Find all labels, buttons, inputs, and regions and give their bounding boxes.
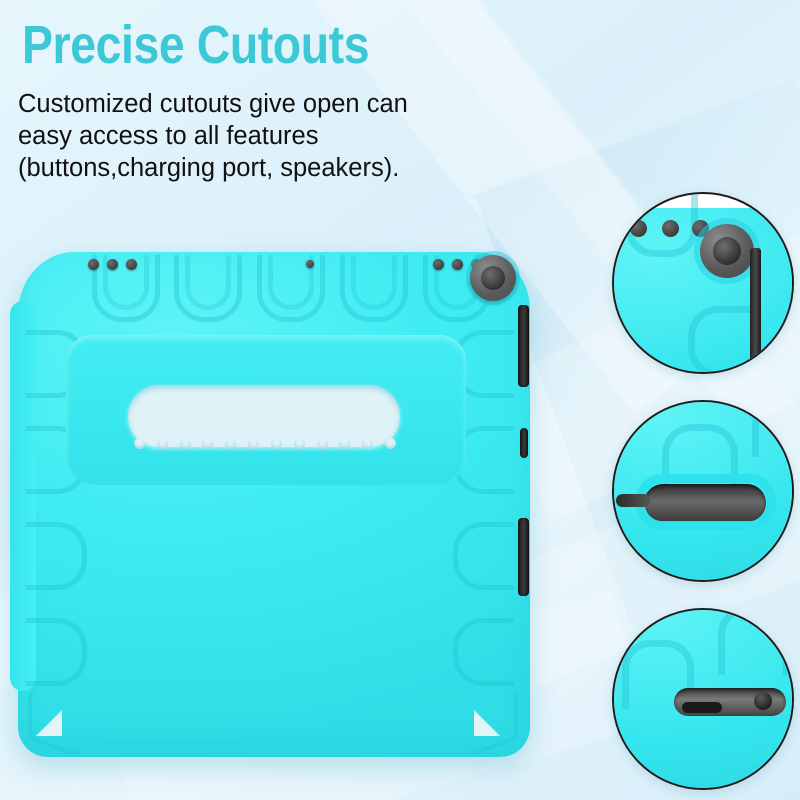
page-title: Precise Cutouts — [22, 16, 369, 74]
grip-bump — [294, 438, 305, 449]
microphone-dot — [88, 259, 99, 270]
subtitle-text: Customized cutouts give open can easy ac… — [18, 88, 538, 184]
grip-bump — [202, 438, 213, 449]
callout-button-cutout — [750, 248, 761, 374]
case-shell — [18, 252, 530, 757]
microphone-dot — [433, 259, 444, 270]
sensor-dot — [306, 260, 314, 268]
callout-cutout-lip — [636, 474, 776, 530]
grip-bump — [157, 438, 168, 449]
callout-headphone-jack-icon — [754, 692, 772, 710]
right-ridge — [453, 522, 514, 590]
callout-top-ridge — [718, 608, 790, 675]
top-ridge-inner — [185, 255, 231, 310]
grip-bump — [317, 438, 328, 449]
grip-bump — [134, 438, 145, 449]
left-ridge — [26, 522, 87, 590]
callout-speaker[interactable] — [612, 400, 794, 582]
microphone-dot — [107, 259, 118, 270]
callout-camera-lens-icon — [700, 224, 754, 278]
callout-side-button-cutout — [616, 494, 650, 507]
callout-charging-port[interactable] — [612, 608, 794, 790]
grip-bump — [362, 438, 373, 449]
grip-bump — [225, 438, 236, 449]
left-ridge — [26, 618, 87, 686]
product-case-image — [10, 245, 550, 765]
callout-top-ridge — [752, 400, 794, 457]
handle-grip-bumps — [134, 438, 396, 450]
camera-lens-icon — [470, 255, 516, 301]
subtitle-line-1: Customized cutouts give open can — [18, 88, 538, 120]
callout-camera[interactable] — [612, 192, 794, 374]
microphone-dot — [452, 259, 463, 270]
grip-bump — [248, 438, 259, 449]
top-ridge-inner — [351, 255, 397, 310]
subtitle-line-2: easy access to all features — [18, 120, 538, 152]
callout-side-ridge — [688, 306, 757, 374]
grip-bump — [385, 438, 396, 449]
product-feature-banner: Precise Cutouts Customized cutouts give … — [0, 0, 800, 800]
power-button-cutout — [518, 305, 529, 387]
grip-bump — [339, 438, 350, 449]
grip-bump — [180, 438, 191, 449]
right-ridge — [453, 618, 514, 686]
callout-microphone-dot — [630, 220, 647, 237]
microphone-dot — [126, 259, 137, 270]
callout-microphone-dot — [662, 220, 679, 237]
volume-button-cutout — [520, 428, 528, 458]
subtitle-line-3: (buttons,charging port, speakers). — [18, 152, 538, 184]
grip-bump — [271, 438, 282, 449]
speaker-cutout — [518, 518, 529, 596]
callout-usb-c-port-icon — [682, 702, 722, 713]
